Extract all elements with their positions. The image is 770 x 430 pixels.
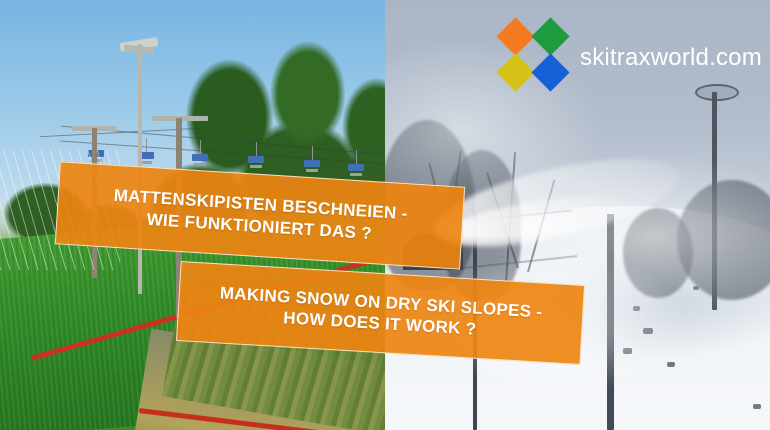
chair-hanger [356, 150, 357, 164]
headline-banner-german-text: MATTENSKIPISTEN BESCHNEIEN - WIE FUNKTIO… [102, 185, 418, 247]
four-diamonds-logo-icon [500, 19, 566, 89]
lift-chair [248, 156, 264, 163]
orange-diamond-icon [496, 17, 534, 55]
lift-chair [192, 154, 208, 161]
blue-diamond-icon [531, 53, 569, 91]
chair-hanger [312, 146, 313, 160]
lift-chair [348, 164, 364, 171]
brand-logo[interactable]: skitraxworld.com [500, 18, 760, 90]
headline-banner-english-text: MAKING SNOW ON DRY SKI SLOPES - HOW DOES… [208, 282, 553, 344]
promo-card: skitraxworld.com MATTENSKIPISTEN BESCHNE… [0, 0, 770, 430]
chair-hanger [200, 140, 201, 154]
lift-chair [304, 160, 320, 167]
chair-hanger [256, 142, 257, 156]
chair-hanger [146, 138, 147, 152]
brand-name: skitraxworld.com [580, 44, 762, 72]
yellow-diamond-icon [496, 53, 534, 91]
green-diamond-icon [531, 17, 569, 55]
